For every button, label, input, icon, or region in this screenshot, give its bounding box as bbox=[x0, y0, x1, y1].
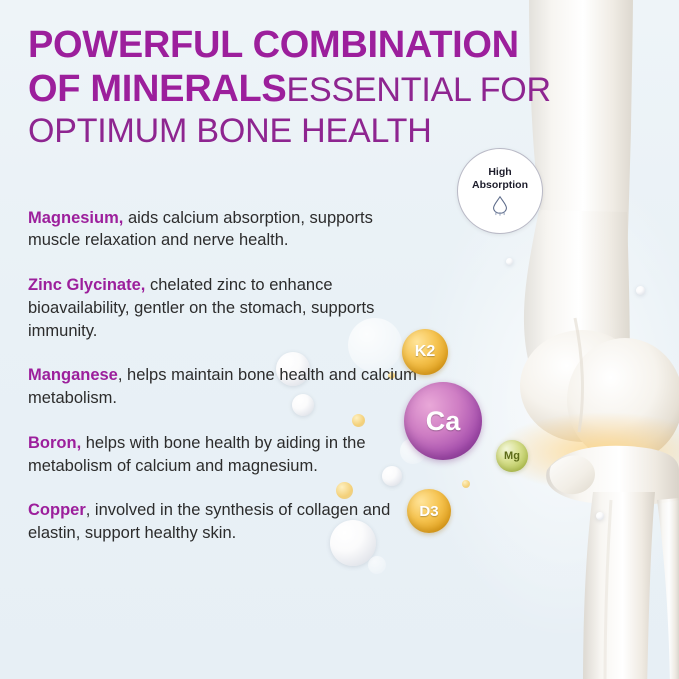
fact-copper: Copper, involved in the synthesis of col… bbox=[28, 499, 428, 545]
gold-fleck bbox=[462, 480, 470, 488]
nutrient-bubble-ca: Ca bbox=[404, 382, 482, 460]
headline-line-3: OPTIMUM BONE HEALTH bbox=[28, 114, 648, 148]
pearl-sphere bbox=[506, 258, 513, 265]
nutrient-bubble-d3: D3 bbox=[407, 489, 451, 533]
fact-zinc-glycinate: Zinc Glycinate, chelated zinc to enhance… bbox=[28, 274, 428, 342]
headline-line-2: OF MINERALSESSENTIAL FOR bbox=[28, 70, 648, 108]
infographic-canvas: POWERFUL COMBINATION OF MINERALSESSENTIA… bbox=[0, 0, 679, 679]
headline: POWERFUL COMBINATION OF MINERALSESSENTIA… bbox=[28, 26, 648, 148]
fact-term: Magnesium, bbox=[28, 209, 123, 227]
headline-line-2-light: ESSENTIAL FOR bbox=[286, 71, 550, 109]
fact-boron: Boron, helps with bone health by aiding … bbox=[28, 432, 428, 478]
fact-term: Copper bbox=[28, 501, 86, 519]
headline-line-1: POWERFUL COMBINATION bbox=[28, 26, 648, 64]
fact-manganese: Manganese, helps maintain bone health an… bbox=[28, 364, 428, 410]
high-absorption-badge: High Absorption bbox=[457, 148, 543, 234]
badge-line-1: High bbox=[488, 166, 511, 178]
fact-magnesium: Magnesium, aids calcium absorption, supp… bbox=[28, 207, 428, 253]
fact-term: Manganese bbox=[28, 366, 118, 384]
water-drop-icon bbox=[485, 194, 515, 216]
nutrient-bubble-mg: Mg bbox=[496, 440, 528, 472]
mineral-facts-list: Magnesium, aids calcium absorption, supp… bbox=[28, 190, 428, 567]
badge-line-2: Absorption bbox=[472, 179, 528, 191]
pearl-sphere bbox=[636, 286, 645, 295]
fact-term: Boron, bbox=[28, 434, 81, 452]
pearl-sphere bbox=[596, 512, 604, 520]
fact-term: Zinc Glycinate, bbox=[28, 276, 145, 294]
nutrient-bubble-k2: K2 bbox=[402, 329, 448, 375]
headline-line-2-strong: OF MINERALS bbox=[28, 68, 286, 110]
